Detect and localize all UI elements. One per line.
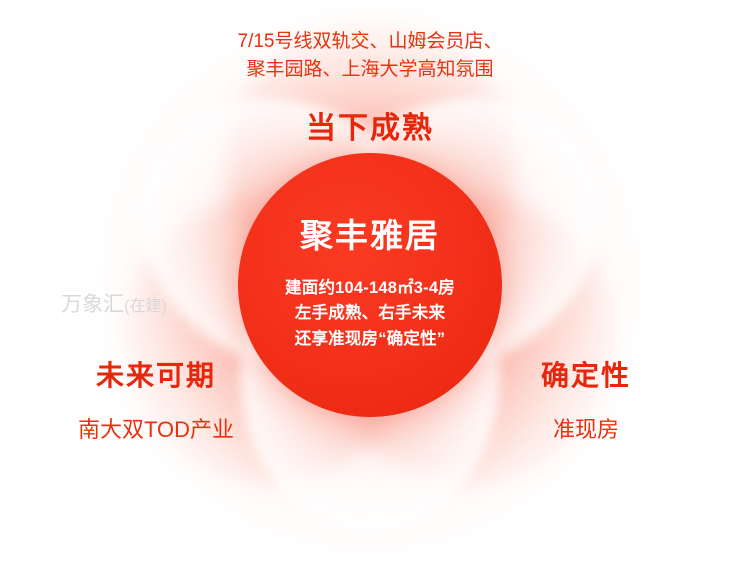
top-node-heading: 当下成熟 bbox=[0, 103, 740, 147]
top-node-description-line2: 聚丰园路、上海大学高知氛围 bbox=[0, 56, 740, 84]
center-hub-details: 建面约104-148㎡3-4房 左手成熟、右手未来 还享准现房“确定性” bbox=[285, 276, 455, 353]
center-hub-title: 聚丰雅居 bbox=[300, 218, 440, 254]
center-hub-line-1: 建面约104-148㎡3-4房 bbox=[285, 276, 455, 302]
top-node-description-line1: 7/15号线双轨交、山姆会员店、 bbox=[0, 28, 740, 56]
top-node-description: 7/15号线双轨交、山姆会员店、 聚丰园路、上海大学高知氛围 bbox=[0, 28, 740, 83]
diagram-canvas: 7/15号线双轨交、山姆会员店、 聚丰园路、上海大学高知氛围 当下成熟 万象汇(… bbox=[0, 0, 740, 561]
left-node-faint-label: 万象汇(在建) bbox=[14, 288, 214, 318]
center-hub-line-2: 左手成熟、右手未来 bbox=[285, 301, 455, 327]
left-node-faint-note: (在建) bbox=[124, 298, 167, 315]
left-node-description: 南大双TOD产业 bbox=[36, 412, 276, 444]
center-hub: 聚丰雅居 建面约104-148㎡3-4房 左手成熟、右手未来 还享准现房“确定性… bbox=[238, 153, 502, 417]
center-hub-line-3: 还享准现房“确定性” bbox=[285, 327, 455, 353]
left-node-faint-text: 万象汇 bbox=[61, 293, 124, 316]
right-node-heading: 确定性 bbox=[466, 354, 706, 394]
right-node-description: 准现房 bbox=[466, 412, 706, 444]
left-node-heading: 未来可期 bbox=[36, 354, 276, 394]
